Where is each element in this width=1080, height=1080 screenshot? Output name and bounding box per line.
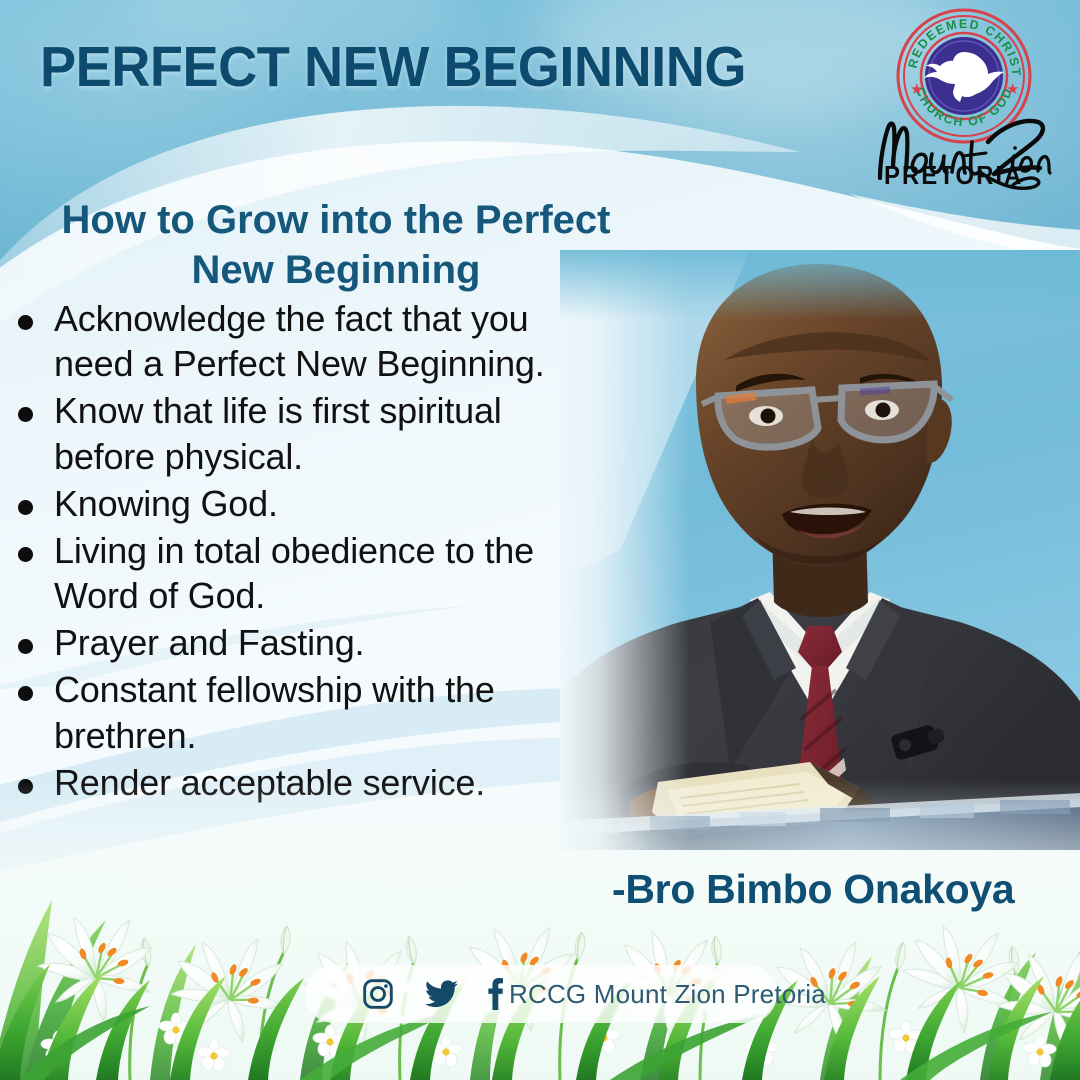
bullet-list: Acknowledge the fact that you need a Per… <box>10 296 610 807</box>
social-footer[interactable]: RCCG Mount Zion Pretoria <box>305 965 777 1023</box>
lily-grass-band <box>0 780 1080 1080</box>
list-item: Constant fellowship with the brethren. <box>10 667 610 757</box>
list-item: Living in total obedience to the Word of… <box>10 528 610 618</box>
poster-canvas: PERFECT NEW BEGINNING THE REDEEMED CHRIS… <box>0 0 1080 1080</box>
bullet-dot-icon <box>18 500 33 515</box>
bullet-dot-icon <box>18 639 33 654</box>
speaker-photo <box>560 250 1080 850</box>
social-handle: RCCG Mount Zion Pretoria <box>509 979 826 1010</box>
bullet-dot-icon <box>18 407 33 422</box>
svg-text:★: ★ <box>910 81 923 98</box>
photo-top-fade <box>560 250 1080 320</box>
bullet-dot-icon <box>18 547 33 562</box>
church-logo: THE REDEEMED CHRISTIAN CHURCH OF GOD ★ ★ <box>868 8 1058 203</box>
list-item-text: Prayer and Fasting. <box>54 622 364 663</box>
facebook-icon[interactable] <box>485 977 507 1011</box>
list-item-text: Knowing God. <box>54 483 278 524</box>
list-item: Know that life is first spiritual before… <box>10 388 610 478</box>
speaker-credit: -Bro Bimbo Onakoya <box>612 866 1014 913</box>
page-title: PERFECT NEW BEGINNING <box>40 34 746 100</box>
list-item-text: Know that life is first spiritual before… <box>54 390 502 476</box>
svg-text:★: ★ <box>1006 81 1019 98</box>
list-item: Acknowledge the fact that you need a Per… <box>10 296 610 386</box>
instagram-icon[interactable] <box>361 977 395 1011</box>
list-item-text: Living in total obedience to the Word of… <box>54 530 534 616</box>
list-item: Knowing God. <box>10 481 610 526</box>
twitter-icon[interactable] <box>423 977 461 1011</box>
bullet-dot-icon <box>18 315 33 330</box>
list-item-text: Constant fellowship with the brethren. <box>54 669 495 755</box>
section-heading: How to Grow into the Perfect New Beginni… <box>26 196 646 295</box>
city-label: PRETORIA <box>884 160 1023 191</box>
list-item: Prayer and Fasting. <box>10 620 610 665</box>
list-item-text: Acknowledge the fact that you need a Per… <box>54 298 545 384</box>
bullet-dot-icon <box>18 686 33 701</box>
